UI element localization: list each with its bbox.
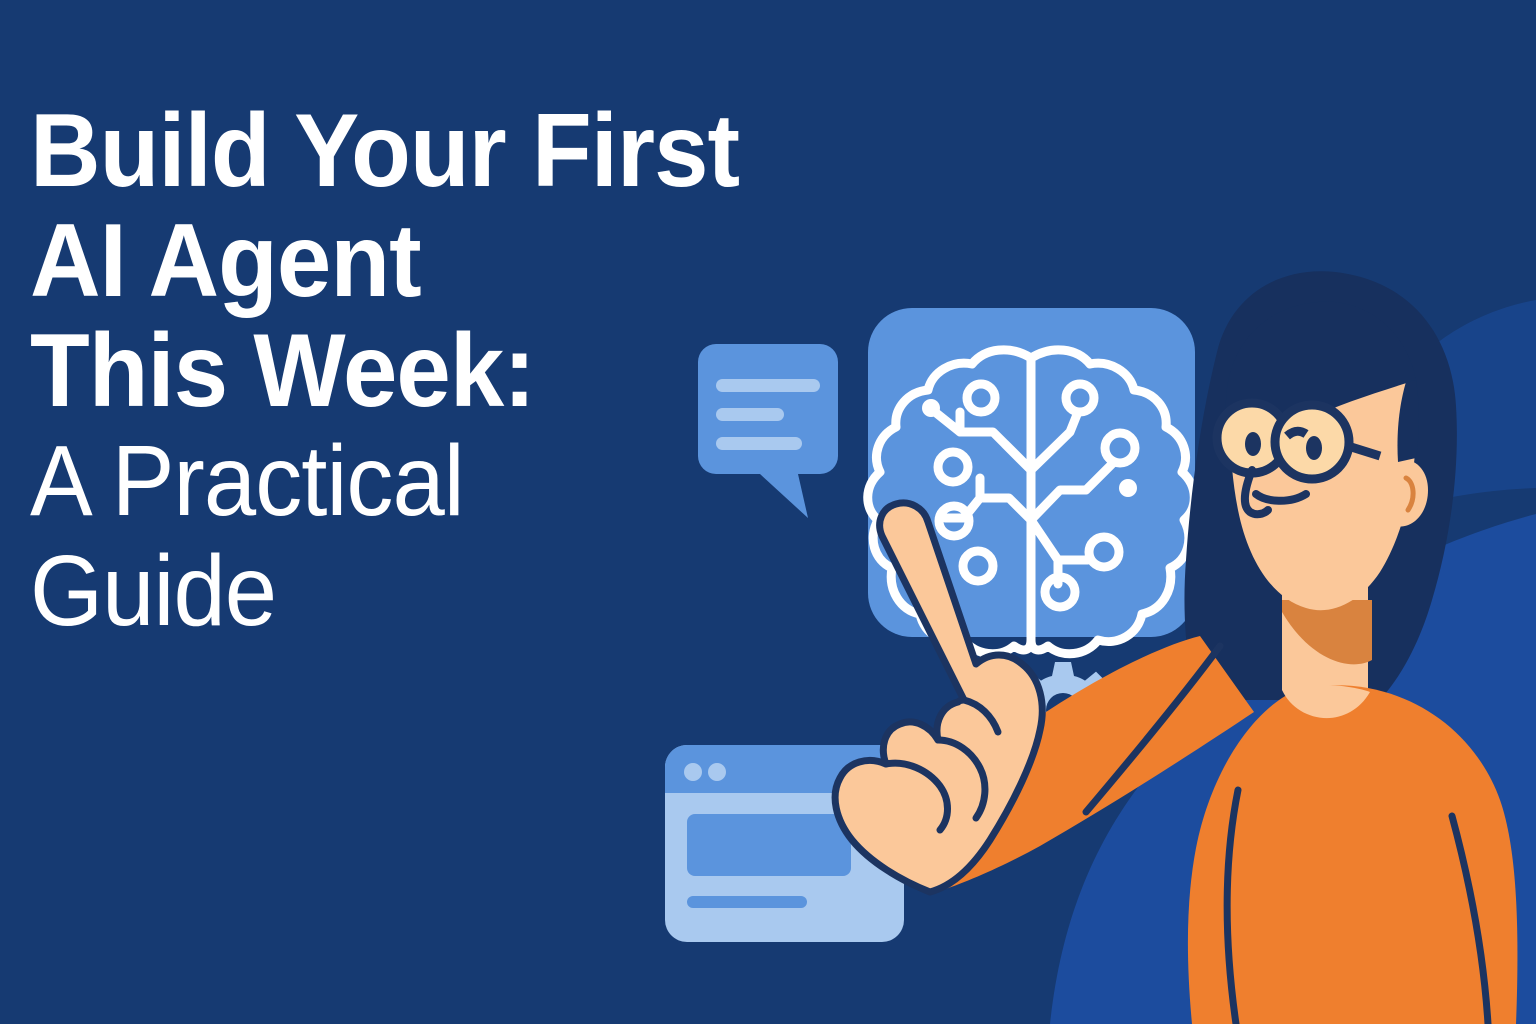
- title-line-5: Guide: [30, 536, 688, 646]
- eye-left: [1245, 432, 1261, 456]
- title-line-3: This Week:: [30, 316, 688, 426]
- browser-dot-1: [684, 763, 702, 781]
- title-line-2: AI Agent: [30, 206, 688, 316]
- page-title: Build Your First AI Agent This Week: A P…: [30, 96, 730, 646]
- chat-bubble-line-1: [716, 379, 820, 392]
- browser-dot-2: [708, 763, 726, 781]
- title-line-4: A Practical: [30, 426, 688, 536]
- title-line-1: Build Your First: [30, 96, 688, 206]
- shirt-torso: [1188, 685, 1518, 1024]
- browser-content-block: [687, 814, 851, 876]
- eye-right: [1306, 436, 1322, 460]
- hero-banner: Build Your First AI Agent This Week: A P…: [0, 0, 1536, 1024]
- browser-content-bar: [687, 896, 807, 908]
- glasses-bridge: [1287, 431, 1306, 436]
